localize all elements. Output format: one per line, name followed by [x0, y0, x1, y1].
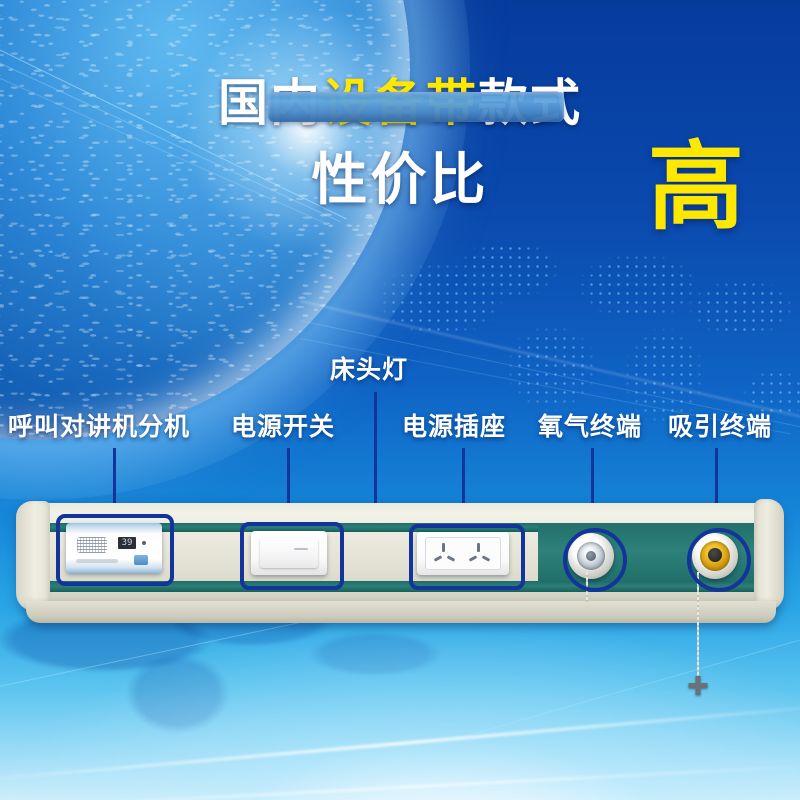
switch-rocker[interactable]	[260, 538, 318, 568]
panel-lower-housing	[26, 601, 776, 623]
panel-end-cap-left	[16, 501, 50, 611]
bed-lamp-diffuser	[268, 92, 564, 122]
panel-end-cap-right	[754, 499, 784, 611]
socket-slot-icon	[447, 555, 455, 561]
socket-slot-icon	[482, 555, 490, 561]
oxygen-terminal[interactable]	[568, 533, 614, 579]
socket-slot-icon	[469, 555, 477, 561]
poster-canvas: 国内设备带款式 性价比 高 呼叫对讲机分机 电源开关 床头灯 电源插座 氧气终端…	[0, 0, 800, 800]
socket-face	[425, 537, 501, 570]
suction-terminal-pin	[708, 548, 722, 562]
pull-cord-handle-icon[interactable]: ✚	[684, 672, 712, 700]
intercom-slot	[76, 559, 118, 563]
oxygen-cord	[586, 572, 588, 602]
intercom-handset[interactable]: 39	[66, 523, 162, 573]
power-switch[interactable]	[251, 531, 327, 575]
intercom-status-dot-icon	[142, 541, 146, 545]
callout-label-socket: 电源插座	[402, 415, 506, 440]
callout-label-switch: 电源开关	[231, 415, 335, 440]
socket-slot-icon	[434, 555, 442, 561]
intercom-call-button[interactable]	[134, 555, 148, 565]
socket-slot-icon	[442, 543, 445, 552]
oxygen-terminal-pin	[586, 551, 596, 561]
intercom-display: 39	[118, 537, 136, 549]
headline-emphasis: 高	[648, 140, 744, 236]
callout-label-oxygen: 氧气终端	[538, 415, 642, 440]
callout-label-suction: 吸引终端	[668, 415, 772, 440]
intercom-speaker-grille	[77, 537, 107, 553]
callout-label-lamp: 床头灯	[330, 358, 408, 383]
panel-stripe-bottom	[44, 581, 756, 592]
socket-slot-icon	[477, 543, 480, 552]
callout-label-intercom: 呼叫对讲机分机	[8, 415, 190, 440]
switch-indicator-line-icon	[294, 548, 308, 550]
pull-cord[interactable]	[697, 572, 699, 676]
power-socket[interactable]	[417, 532, 509, 575]
